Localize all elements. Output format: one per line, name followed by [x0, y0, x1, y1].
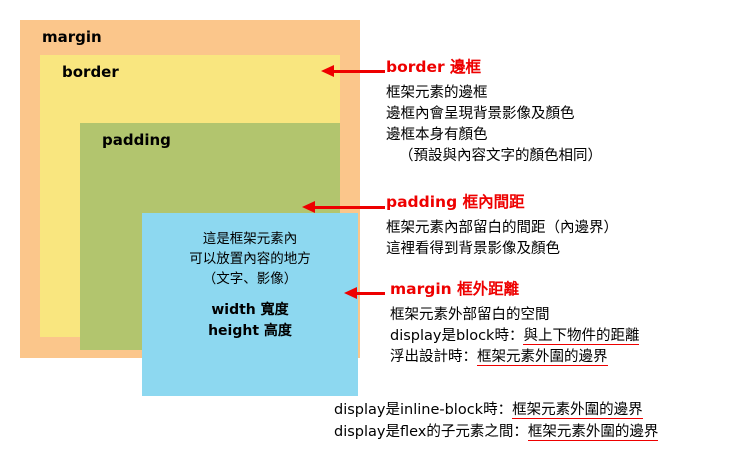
annotation-body-margin: 框架元素外部留白的空間 display是block時：與上下物件的距離 浮出設計… [390, 305, 639, 368]
annotation-rule-prefix: 浮出設計時： [390, 349, 477, 365]
annotation-rule-prefix: display是inline-block時： [334, 402, 512, 418]
annotation-rule-value: 框架元素外圍的邊界 [477, 349, 608, 366]
annotation-line: 邊框內會呈現背景影像及顏色 [386, 104, 602, 125]
content-width-label: width 寬度 [208, 300, 292, 321]
annotations-panel: border 邊框 框架元素的邊框 邊框內會呈現背景影像及顏色 邊框本身有顏色 … [386, 0, 750, 461]
arrow-shaft [354, 292, 385, 295]
annotation-block-margin: margin 框外距離 框架元素外部留白的空間 display是block時：與… [390, 282, 639, 368]
content-dimensions-group: width 寬度 height 高度 [208, 300, 292, 342]
annotation-rule-prefix: display是block時： [390, 328, 523, 344]
annotation-line: 框架元素內部留白的間距（內邊界） [386, 218, 618, 239]
content-text-line: 可以放置內容的地方 [189, 249, 311, 269]
annotation-rule-prefix: display是flex的子元素之間： [334, 424, 528, 440]
annotation-rule-value: 與上下物件的距離 [523, 328, 639, 345]
annotation-line: 框架元素外部留白的空間 [390, 305, 639, 326]
box-model-diagram: margin border padding 這是框架元素內 可以放置內容的地方 … [20, 20, 360, 358]
annotation-rule-value: 框架元素外圍的邊界 [512, 402, 643, 419]
annotation-heading-padding: padding 框內間距 [386, 195, 618, 211]
annotation-line: 邊框本身有顏色 [386, 125, 602, 146]
annotation-rule-value: 框架元素外圍的邊界 [528, 424, 659, 441]
arrow-shaft [331, 70, 385, 73]
padding-layer-label: padding [102, 133, 171, 148]
annotation-line: 框架元素的邊框 [386, 83, 602, 104]
annotation-line: （預設與內容文字的顏色相同） [386, 146, 602, 167]
content-layer: 這是框架元素內 可以放置內容的地方 （文字、影像） width 寬度 heigh… [142, 213, 358, 396]
border-pointer-arrow-icon [321, 65, 385, 77]
padding-pointer-arrow-icon [302, 201, 385, 213]
border-layer: border padding 這是框架元素內 可以放置內容的地方 （文字、影像）… [40, 55, 340, 337]
margin-layer: margin border padding 這是框架元素內 可以放置內容的地方 … [20, 20, 360, 358]
annotation-heading-margin: margin 框外距離 [390, 282, 639, 298]
annotation-rule-line: display是block時：與上下物件的距離 [390, 326, 639, 347]
padding-layer: padding 這是框架元素內 可以放置內容的地方 （文字、影像） width … [80, 123, 340, 350]
annotation-rule-line: 浮出設計時：框架元素外圍的邊界 [390, 347, 639, 368]
annotation-block-extra-rules: display是inline-block時：框架元素外圍的邊界 display是… [334, 399, 658, 443]
annotation-block-border: border 邊框 框架元素的邊框 邊框內會呈現背景影像及顏色 邊框本身有顏色 … [386, 60, 602, 167]
annotation-block-padding: padding 框內間距 框架元素內部留白的間距（內邊界） 這裡看得到背景影像及… [386, 195, 618, 260]
content-text-line: （文字、影像） [203, 269, 298, 289]
arrow-shaft [312, 206, 385, 209]
annotation-heading-border: border 邊框 [386, 60, 602, 76]
margin-pointer-arrow-icon [344, 287, 385, 299]
margin-layer-label: margin [42, 30, 102, 45]
annotation-body-padding: 框架元素內部留白的間距（內邊界） 這裡看得到背景影像及顏色 [386, 218, 618, 260]
border-layer-label: border [62, 65, 119, 80]
content-height-label: height 高度 [208, 321, 292, 342]
content-text-line: 這是框架元素內 [203, 229, 298, 249]
annotation-rule-line: display是flex的子元素之間：框架元素外圍的邊界 [334, 421, 658, 443]
annotation-rule-line: display是inline-block時：框架元素外圍的邊界 [334, 399, 658, 421]
annotation-body-border: 框架元素的邊框 邊框內會呈現背景影像及顏色 邊框本身有顏色 （預設與內容文字的顏… [386, 83, 602, 167]
annotation-line: 這裡看得到背景影像及顏色 [386, 239, 618, 260]
